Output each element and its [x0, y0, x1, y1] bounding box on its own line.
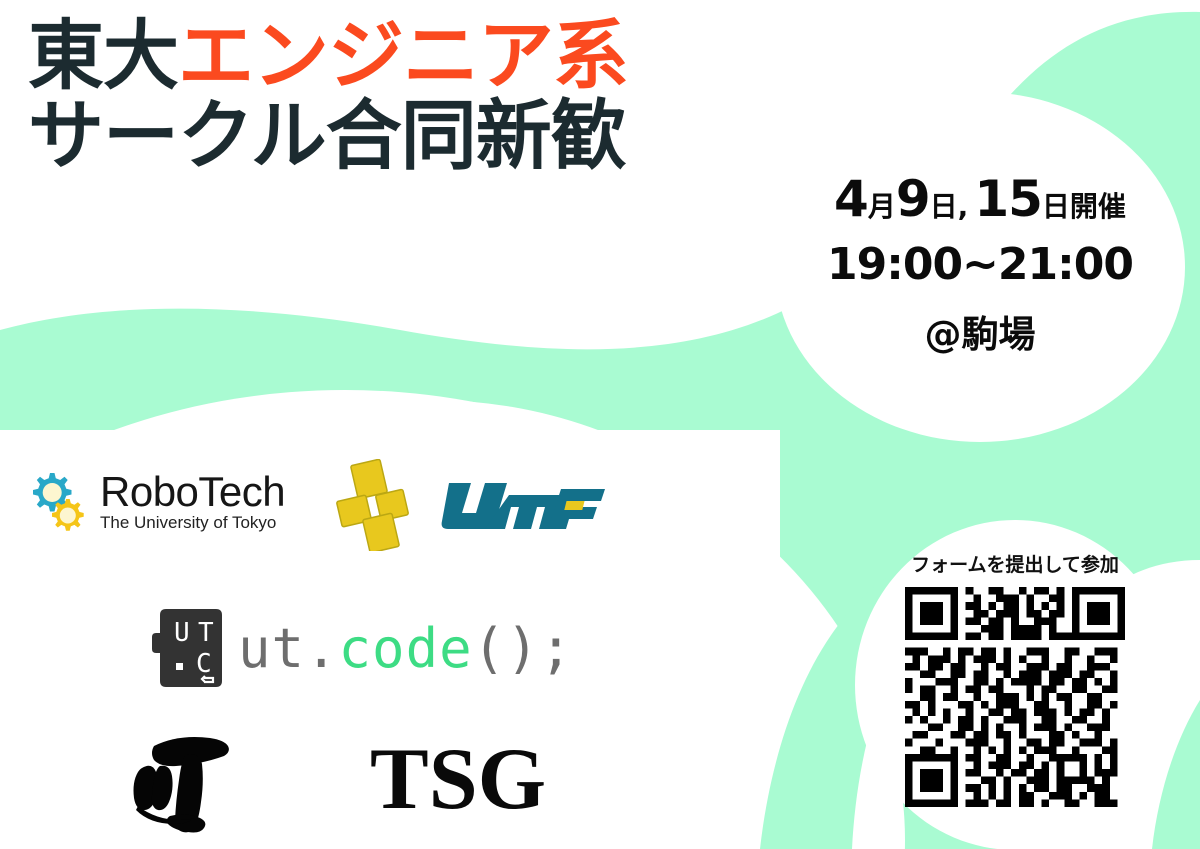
page-title: 東大エンジニア系 サークル合同新歓	[28, 16, 728, 176]
date-month-label: 月	[868, 185, 896, 225]
utcode-suffix: ();	[473, 617, 574, 680]
qr-code-icon[interactable]	[905, 587, 1125, 807]
event-venue: @駒場	[925, 304, 1036, 358]
qr-caption: フォームを提出して参加	[911, 550, 1119, 577]
headline-line-1: 東大エンジニア系	[28, 16, 728, 96]
headline-accent: エンジニア系	[178, 11, 628, 100]
date-day2-label: 日	[1042, 185, 1070, 225]
tsg-wordmark: TSG	[370, 736, 546, 824]
logo-brush-kanji	[98, 722, 248, 837]
event-time: 19:00~21:00	[827, 239, 1133, 290]
date-day1-label: 日	[930, 185, 958, 225]
robotech-subtitle: The University of Tokyo	[100, 513, 285, 533]
date-month-number: 4	[834, 177, 868, 222]
utcode-accent: code	[339, 617, 473, 680]
utc-badge-icon: U T C	[152, 607, 224, 689]
brush-kanji-icon	[98, 724, 244, 836]
logo-robotech: RoboTech The University of Tokyo	[22, 455, 322, 550]
logo-utcode: U T C ut.code();	[152, 602, 552, 694]
svg-text:U: U	[174, 618, 190, 648]
qr-signup-circle: フォームを提出して参加	[855, 520, 1175, 849]
robotech-text-block: RoboTech The University of Tokyo	[100, 472, 285, 534]
utcode-prefix: ut.	[238, 617, 339, 680]
svg-text:T: T	[198, 618, 214, 648]
date-separator: ,	[958, 190, 969, 223]
date-day2-number: 15	[974, 177, 1042, 222]
headline-prefix: 東大	[28, 11, 178, 100]
svg-text:C: C	[196, 649, 212, 679]
logo-tsg: TSG	[370, 735, 590, 825]
date-info-circle: 4月9日,15日開催 19:00~21:00 @駒場	[775, 92, 1185, 442]
gears-icon	[22, 467, 94, 539]
date-day1-number: 9	[896, 177, 930, 222]
robotech-name: RoboTech	[100, 472, 285, 512]
poster-canvas: 東大エンジニア系 サークル合同新歓 4月9日,15日開催 19:00~21:00…	[0, 0, 1200, 849]
umf-wordmark	[427, 475, 617, 535]
date-held-label: 開催	[1070, 185, 1126, 225]
utcode-wordmark: ut.code();	[238, 617, 573, 680]
logo-umf	[336, 455, 626, 555]
headline-line-2: サークル合同新歓	[28, 96, 728, 176]
four-squares-icon	[336, 459, 421, 551]
date-line-dates: 4月9日,15日開催	[834, 177, 1126, 225]
